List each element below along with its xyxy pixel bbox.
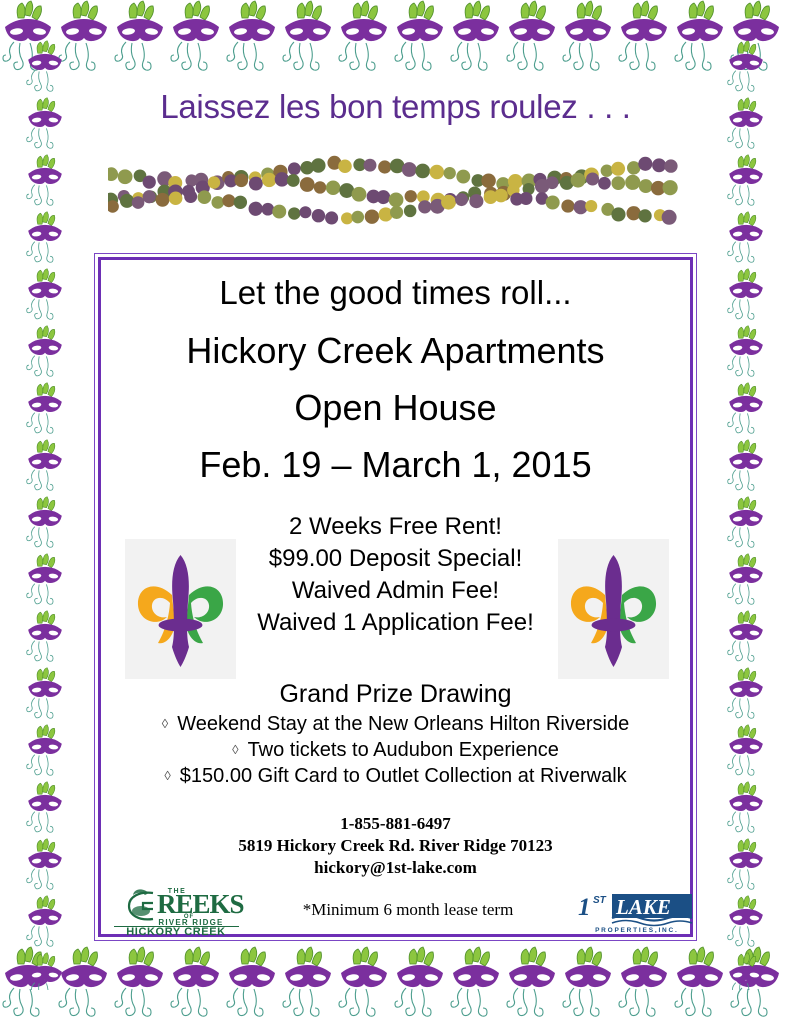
mardi-gras-mask-icon (0, 553, 90, 610)
contact-block: 1-855-881-6497 5819 Hickory Creek Rd. Ri… (100, 813, 691, 879)
mardi-gras-mask-icon (0, 946, 56, 1024)
mardi-gras-mask-icon (336, 0, 392, 78)
mardi-gras-mask-icon (0, 325, 90, 382)
mardi-gras-mask-icon (672, 946, 728, 1024)
contact-phone: 1-855-881-6497 (100, 813, 691, 835)
mardi-gras-mask-icon (0, 211, 90, 268)
mardi-gras-mask-icon (701, 211, 791, 268)
page-title: Laissez les bon temps roulez . . . (0, 88, 791, 126)
mardi-gras-mask-icon (701, 838, 791, 895)
mardi-gras-mask-icon (56, 946, 112, 1024)
mardi-gras-mask-icon (701, 382, 791, 439)
mardi-gras-mask-icon (56, 0, 112, 78)
mardi-gras-mask-icon (0, 496, 90, 553)
mardi-gras-mask-icon (616, 0, 672, 78)
mardi-gras-mask-icon (280, 0, 336, 78)
mardi-gras-mask-icon (701, 439, 791, 496)
mardi-gras-mask-icon (701, 154, 791, 211)
offers-list: 2 Weeks Free Rent! $99.00 Deposit Specia… (100, 511, 691, 639)
diamond-bullet-icon: ◊ (232, 742, 238, 757)
diamond-bullet-icon: ◊ (164, 768, 170, 783)
mardi-gras-mask-icon (560, 946, 616, 1024)
mardi-gras-mask-icon (168, 0, 224, 78)
mardi-gras-mask-icon (728, 946, 784, 1024)
offer-item: Waived 1 Application Fee! (100, 607, 691, 639)
flyer-content: Let the good times roll... Hickory Creek… (100, 259, 691, 935)
grand-prize-heading: Grand Prize Drawing (100, 680, 691, 709)
mardi-gras-mask-icon (280, 946, 336, 1024)
prize-item-label: Two tickets to Audubon Experience (248, 739, 559, 761)
firstlake-logo-sub: P R O P E R T I E S , I N C . (595, 927, 677, 933)
mardi-gras-mask-icon (0, 952, 90, 990)
mardi-gras-mask-icon (701, 667, 791, 724)
mardi-gras-mask-icon (0, 0, 56, 78)
mardi-gras-mask-icon (168, 946, 224, 1024)
mardi-gras-mask-icon (701, 268, 791, 325)
mardi-gras-flyer: Laissez les bon temps roulez . . . Let t… (0, 0, 791, 1024)
mardi-gras-mask-icon (0, 724, 90, 781)
offer-item: $99.00 Deposit Special! (100, 543, 691, 575)
mardi-gras-mask-icon (0, 382, 90, 439)
mardi-gras-mask-icon (701, 496, 791, 553)
border-masks-top (0, 0, 791, 78)
first-lake-properties-logo: 1 ST LAKE P R O P E R T I E S , I N C . (576, 889, 696, 933)
mardi-gras-mask-icon (336, 946, 392, 1024)
offer-item: Waived Admin Fee! (100, 575, 691, 607)
prize-item: ◊$150.00 Gift Card to Outlet Collection … (100, 763, 691, 789)
mardi-gras-mask-icon (0, 439, 90, 496)
mardi-gras-mask-icon (504, 0, 560, 78)
mardi-gras-mask-icon (701, 325, 791, 382)
mardi-gras-mask-icon (672, 0, 728, 78)
mardi-gras-mask-icon (112, 0, 168, 78)
mardi-gras-mask-icon (616, 946, 672, 1024)
mardi-gras-mask-icon (448, 946, 504, 1024)
grand-prize-list: ◊Weekend Stay at the New Orleans Hilton … (100, 711, 691, 789)
mardi-gras-mask-icon (504, 946, 560, 1024)
mardi-gras-mask-icon (701, 781, 791, 838)
mardi-gras-mask-icon (0, 781, 90, 838)
mardi-gras-mask-icon (112, 946, 168, 1024)
headline-line-4: Feb. 19 – March 1, 2015 (100, 444, 691, 486)
contact-email: hickory@1st-lake.com (100, 857, 691, 879)
mardi-gras-mask-icon (701, 610, 791, 667)
mardi-gras-mask-icon (560, 0, 616, 78)
mardi-gras-mask-icon (224, 0, 280, 78)
creeks-logo-property: HICKORY CREEK (126, 926, 225, 936)
firstlake-logo-st: ST (593, 895, 607, 906)
mardi-gras-mask-icon (0, 838, 90, 895)
contact-address: 5819 Hickory Creek Rd. River Ridge 70123 (100, 835, 691, 857)
creeks-logo-main: REEKS (157, 889, 244, 919)
prize-item: ◊Two tickets to Audubon Experience (100, 737, 691, 763)
creeks-of-river-ridge-logo: THE REEKS OF RIVER RIDGE HICKORY CREEK (109, 881, 244, 936)
mardi-gras-mask-icon (728, 0, 784, 78)
diamond-bullet-icon: ◊ (162, 716, 168, 731)
lease-term-footnote: *Minimum 6 month lease term (278, 900, 538, 920)
mardi-gras-mask-icon (0, 268, 90, 325)
mardi-gras-mask-icon (0, 895, 90, 952)
mardi-gras-beads-image (108, 143, 678, 235)
prize-item-label: Weekend Stay at the New Orleans Hilton R… (177, 713, 629, 735)
mardi-gras-mask-icon (0, 667, 90, 724)
offer-item: 2 Weeks Free Rent! (100, 511, 691, 543)
prize-item: ◊Weekend Stay at the New Orleans Hilton … (100, 711, 691, 737)
mardi-gras-mask-icon (0, 154, 90, 211)
mardi-gras-mask-icon (448, 0, 504, 78)
border-masks-bottom (0, 946, 791, 1024)
mardi-gras-mask-icon (701, 895, 791, 952)
firstlake-logo-1: 1 (578, 894, 591, 921)
mardi-gras-mask-icon (701, 553, 791, 610)
headline-line-2: Hickory Creek Apartments (100, 330, 691, 372)
headline-line-3: Open House (100, 387, 691, 429)
mardi-gras-mask-icon (224, 946, 280, 1024)
mardi-gras-mask-icon (701, 724, 791, 781)
prize-item-label: $150.00 Gift Card to Outlet Collection a… (180, 765, 627, 787)
border-masks-right (701, 40, 791, 990)
mardi-gras-mask-icon (0, 610, 90, 667)
mardi-gras-mask-icon (701, 952, 791, 990)
headline-line-1: Let the good times roll... (100, 274, 691, 312)
mardi-gras-mask-icon (392, 0, 448, 78)
mardi-gras-mask-icon (392, 946, 448, 1024)
border-masks-left (0, 40, 90, 990)
